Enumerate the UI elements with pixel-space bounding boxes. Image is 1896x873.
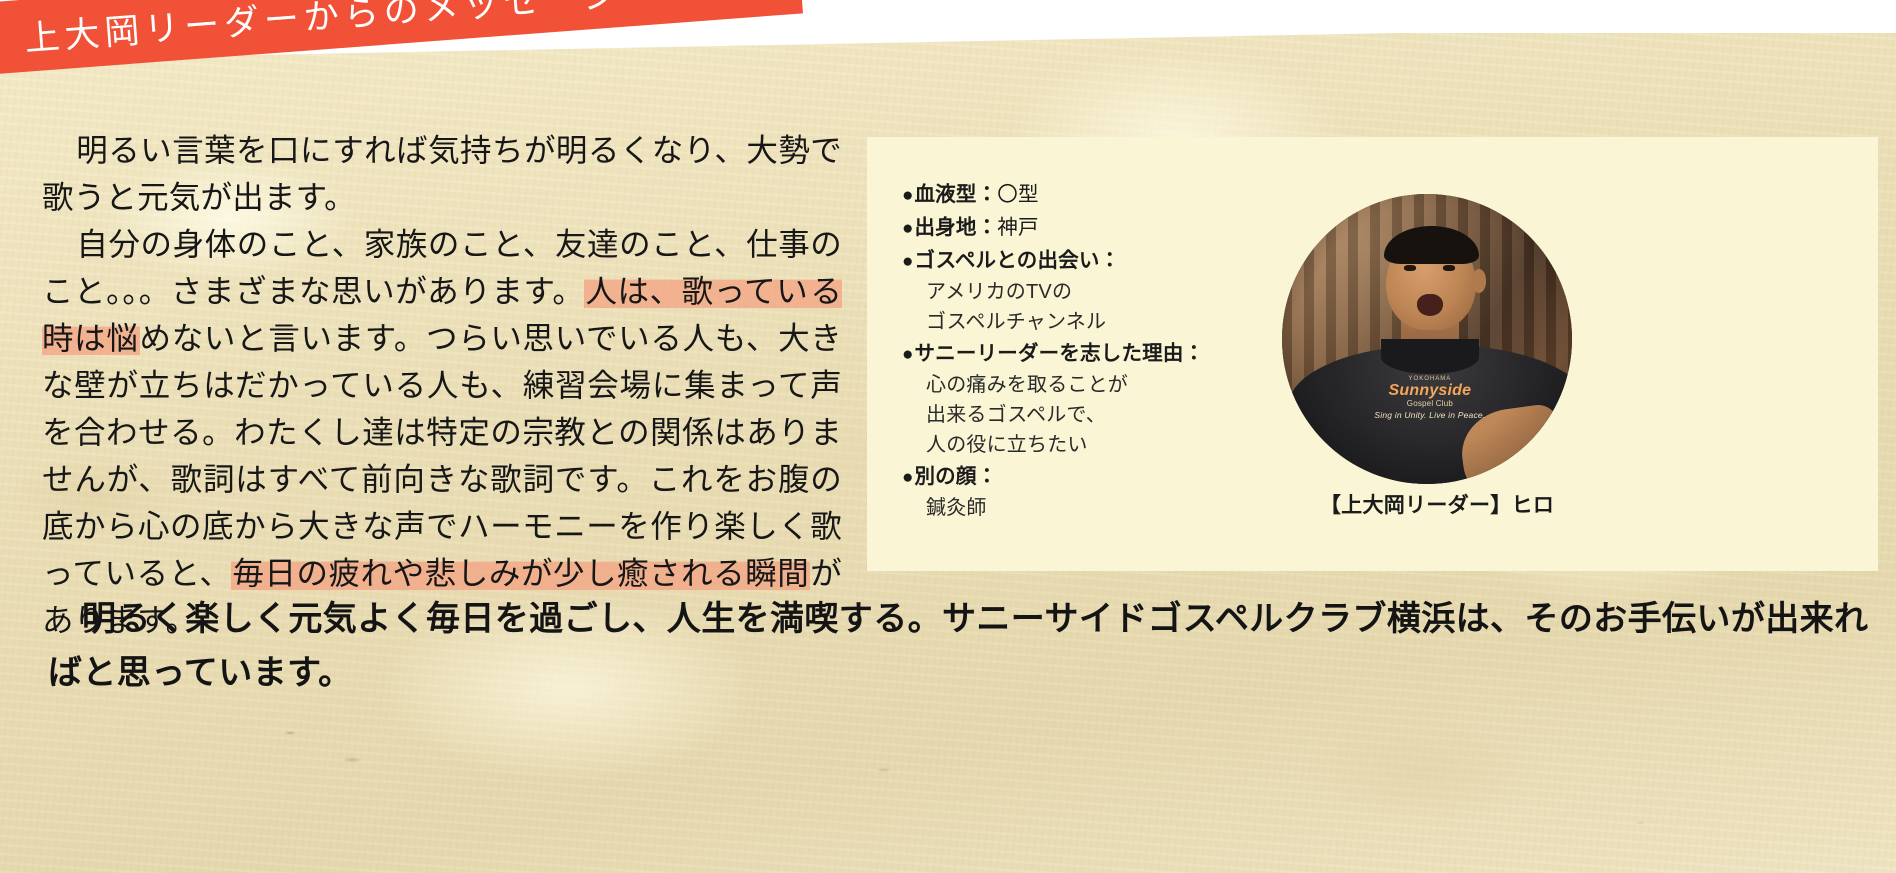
photo-mouth-singing	[1417, 294, 1443, 316]
photo-ear	[1472, 269, 1487, 292]
highlight-phrase-3: 毎日の疲れや悲しみが少し癒される瞬間	[231, 555, 810, 591]
paragraph-2: 自分の身体のこと、家族のこと、友達のこと、仕事のこと。。。さまざまな思いがありま…	[42, 221, 842, 644]
portrait-photo: YOKOHAMA Sunnyside Gospel Club Sing in U…	[1282, 194, 1572, 484]
bullet-icon: ●	[902, 180, 913, 211]
message-body: 明るい言葉を口にすれば気持ちが明るくなり、大勢で歌うと元気が出ます。 自分の身体…	[42, 127, 842, 644]
bullet-icon: ●	[902, 213, 913, 244]
photo-neck	[1401, 313, 1459, 359]
profile-value: 神戸	[997, 212, 1038, 243]
document-page: 上大岡リーダーからのメッセージ 明るい言葉を口にすれば気持ちが明るくなり、大勢で…	[0, 0, 1896, 873]
shirt-print-motto: Sing in Unity. Live in Peace.	[1372, 411, 1488, 420]
closing-paragraph: 明るく楽しく元気よく毎日を過ごし、人生を満喫する。サニーサイドゴスペルクラブ横浜…	[48, 592, 1878, 700]
bullet-icon: ●	[902, 339, 913, 370]
closing-line-1: 明るく楽しく元気よく毎日を過ごし、人生を満喫する。サニーサイドゴスペルクラブ横浜…	[82, 600, 1524, 638]
profile-card: ● 血液型： 〇型 ● 出身地： 神戸 ● ゴスペルとの出会い： アメリカのTV…	[867, 137, 1878, 571]
profile-label: ゴスペルとの出会い：	[914, 245, 1120, 276]
shirt-print-top: YOKOHAMA	[1409, 376, 1452, 382]
profile-label: 別の顔：	[914, 461, 997, 492]
paragraph-1-line-1: 明るい言葉を口にすれば気持ちが明るくなり、大勢で	[76, 132, 842, 168]
photo-eyebrow-left	[1401, 258, 1417, 262]
photo-arm	[1456, 402, 1566, 484]
leader-portrait: YOKOHAMA Sunnyside Gospel Club Sing in U…	[1282, 194, 1572, 484]
profile-label: 血液型：	[914, 179, 997, 210]
bullet-icon: ●	[902, 462, 913, 493]
profile-label: サニーリーダーを志した理由：	[914, 338, 1204, 369]
paragraph-1: 明るい言葉を口にすれば気持ちが明るくなり、大勢で歌うと元気が出ます。	[42, 127, 842, 221]
photo-head	[1386, 232, 1476, 331]
photo-hair	[1384, 226, 1480, 264]
paragraph-2-seg-c: めないと言います。つらい思いでいる人も、大	[140, 320, 811, 356]
photo-eye-right	[1443, 265, 1455, 271]
paragraph-1-line-2: 歌うと元気が出ます。	[42, 179, 356, 215]
photo-collar	[1381, 339, 1480, 374]
profile-value: 〇型	[997, 179, 1038, 210]
photo-shirt-print: YOKOHAMA Sunnyside Gospel Club Sing in U…	[1372, 374, 1488, 449]
photo-background	[1282, 194, 1572, 484]
paragraph-2-seg-a: 自分の身体のこと、家族のこと、友達のこと、仕事の	[76, 226, 842, 262]
shirt-print-brand: Sunnyside	[1372, 383, 1488, 400]
shirt-print-club: Gospel Club	[1372, 400, 1488, 408]
photo-eyebrow-right	[1441, 258, 1457, 262]
photo-eye-left	[1404, 265, 1416, 271]
bullet-icon: ●	[902, 246, 913, 277]
paragraph-2-seg-b: こと。。。さまざまな思いがあります。	[42, 273, 584, 309]
portrait-caption: 【上大岡リーダー】ヒロ	[1227, 489, 1647, 519]
highlight-phrase-1: 人は、歌ってい	[584, 273, 809, 309]
profile-label: 出身地：	[914, 212, 997, 243]
